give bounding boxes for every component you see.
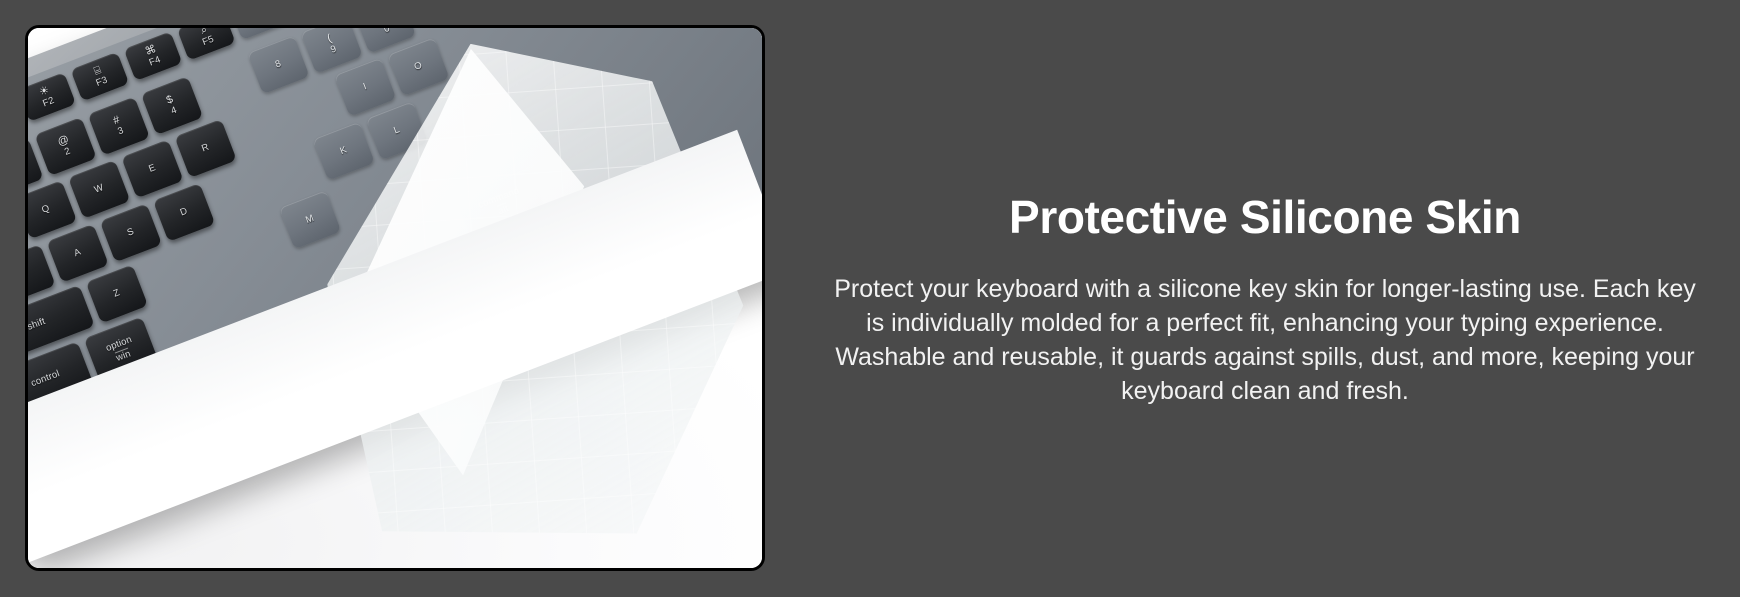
product-image-card: esc ☀ F1 ☀ F2 ⌸ [25, 25, 765, 571]
key-k: K [313, 122, 375, 181]
key-8: 8 [247, 35, 309, 94]
key-o: O [387, 37, 449, 96]
page-title: Protective Silicone Skin [1009, 190, 1521, 244]
key-f7: ◁◁ F7 [230, 28, 289, 40]
key-4: $ 4 [141, 76, 203, 135]
key-l: L [366, 101, 428, 160]
key-f3: ⌸ F3 [70, 52, 129, 102]
key-2: @ 2 [34, 117, 96, 176]
key-i: I [334, 58, 396, 117]
key-f5: ⌕ F5 [177, 28, 236, 61]
feature-description: Protect your keyboard with a silicone ke… [825, 272, 1705, 408]
feature-copy-column: Protective Silicone Skin Protect your ke… [800, 0, 1730, 597]
key-w: W [68, 160, 130, 219]
keyboard-photo: esc ☀ F1 ☀ F2 ⌸ [28, 28, 762, 568]
key-m: M [279, 190, 341, 249]
key-d: D [153, 183, 215, 242]
key-3: # 3 [88, 97, 150, 156]
key-z: Z [86, 264, 148, 323]
key-a: A [46, 224, 108, 283]
key-s: S [100, 203, 162, 262]
key-r: R [174, 119, 236, 178]
key-f4: ⌘ F4 [124, 31, 183, 81]
key-f2: ☀ F2 [28, 72, 76, 122]
product-feature-banner: esc ☀ F1 ☀ F2 ⌸ [0, 0, 1740, 597]
key-e: E [121, 139, 183, 198]
key-q: Q [28, 180, 77, 239]
